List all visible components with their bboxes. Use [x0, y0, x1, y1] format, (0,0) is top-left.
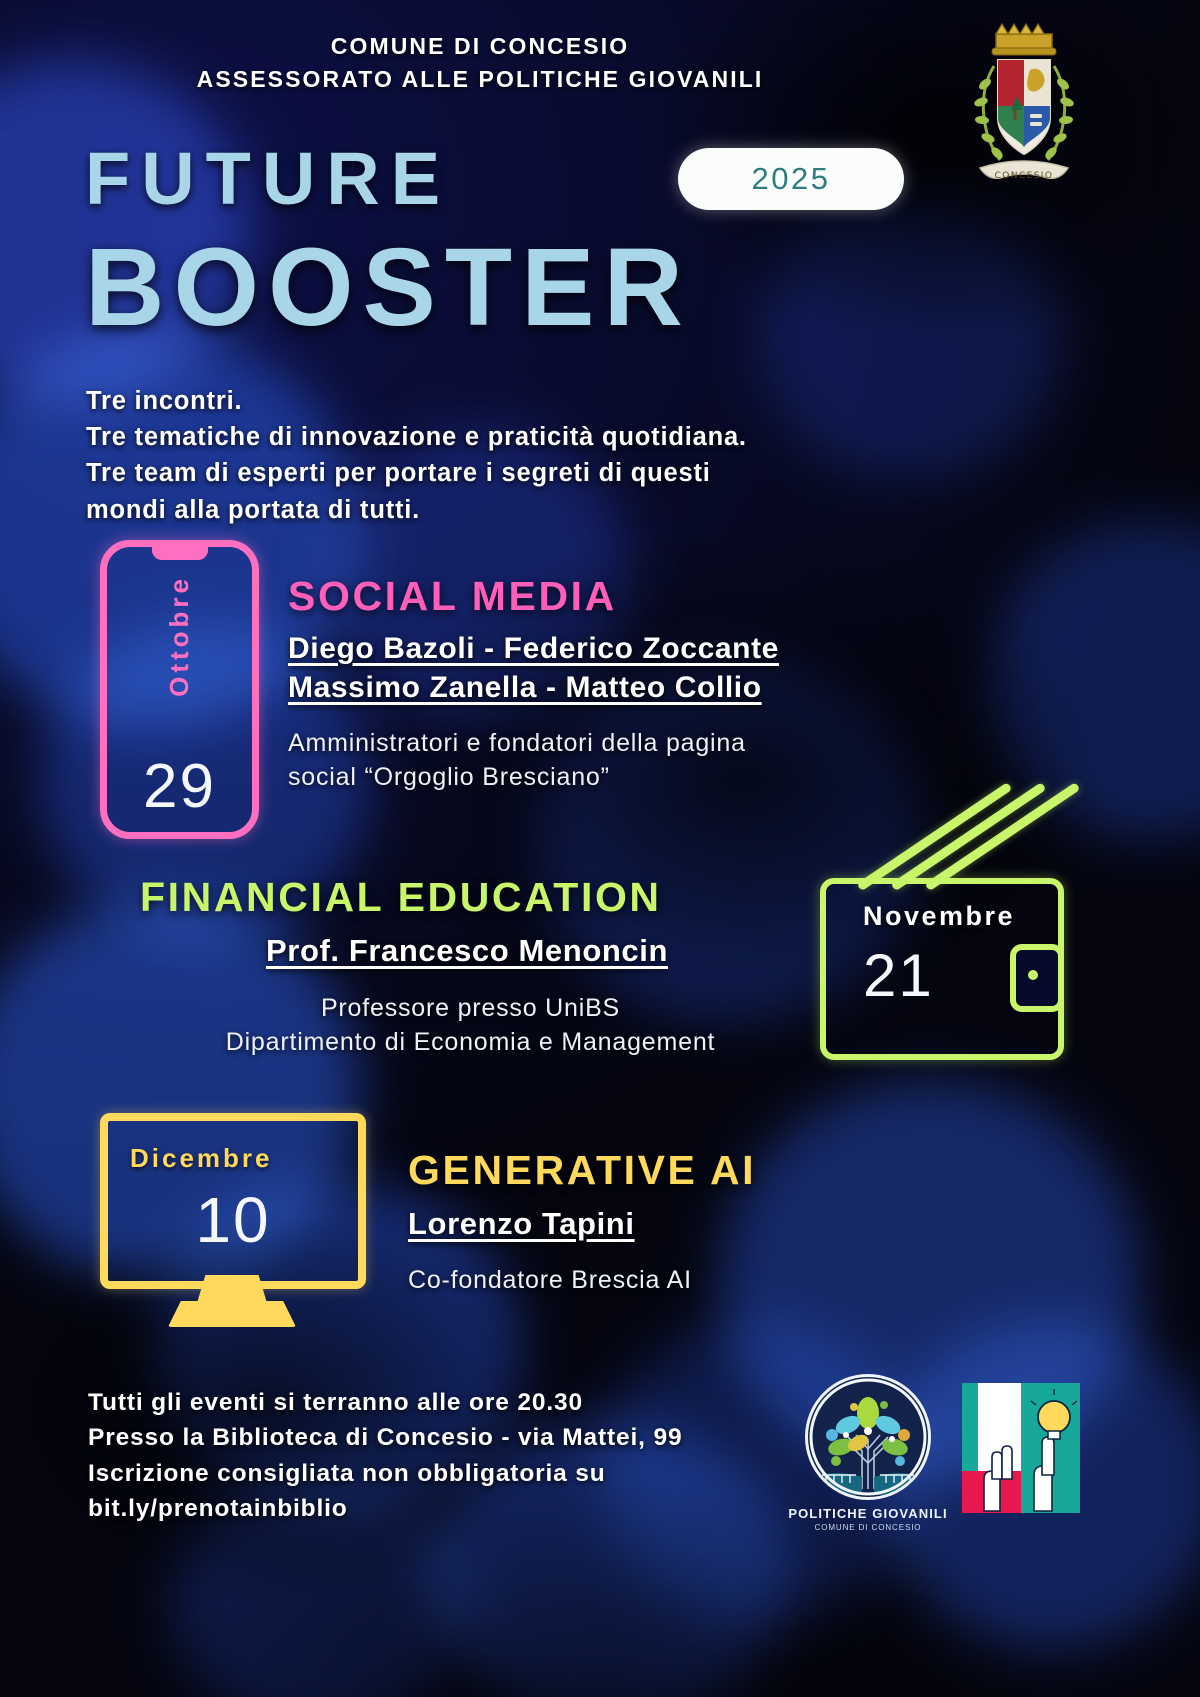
session-1-month-wrap: Ottobre: [107, 575, 252, 697]
session-1-speakers-line-2: Massimo Zanella - Matteo Collio: [288, 671, 762, 705]
page-title-future: FUTURE: [85, 136, 451, 221]
wallet-card-3: [924, 782, 1080, 891]
footer-line-registration: Iscrizione consigliata non obbligatoria …: [88, 1456, 788, 1491]
session-3-day: 10: [108, 1183, 358, 1257]
session-1-title: SOCIAL MEDIA: [288, 573, 617, 620]
footer-line-time: Tutti gli eventi si terranno alle ore 20…: [88, 1385, 788, 1420]
hand-lightbulb-logo: [962, 1383, 1080, 1513]
monitor-neck: [197, 1275, 267, 1303]
session-2-speaker: Prof. Francesco Menoncin: [266, 933, 668, 969]
intro-line-3: Tre team di esperti per portare i segret…: [86, 455, 986, 491]
session-2-desc-line-2: Dipartimento di Economia e Management: [148, 1026, 793, 1060]
politiche-giovanili-caption: POLITICHE GIOVANILI: [788, 1506, 948, 1521]
wallet-icon: Novembre 21: [815, 795, 1065, 1060]
intro-paragraph: Tre incontri. Tre tematiche di innovazio…: [86, 383, 986, 528]
smartphone-notch: [152, 545, 208, 560]
year-badge: 2025: [678, 148, 904, 210]
intro-line-2: Tre tematiche di innovazione e praticità…: [86, 419, 986, 455]
tree-circuit-icon: [805, 1374, 931, 1500]
wallet-card-2: [890, 782, 1046, 891]
session-3-speaker: Lorenzo Tapini: [408, 1206, 635, 1242]
monitor-screen: Dicembre 10: [100, 1113, 366, 1289]
politiche-giovanili-logo: POLITICHE GIOVANILI COMUNE DI CONCESIO: [788, 1374, 948, 1542]
smartphone-icon: Ottobre 29: [100, 540, 259, 839]
session-1-desc-line-1: Amministratori e fondatori della pagina: [288, 727, 746, 761]
session-3-title: GENERATIVE AI: [408, 1147, 756, 1194]
footer-info: Tutti gli eventi si terranno alle ore 20…: [88, 1385, 788, 1526]
session-3-description: Co-fondatore Brescia AI: [408, 1264, 692, 1298]
monitor-icon: Dicembre 10: [100, 1113, 365, 1333]
wallet-clasp-dot: [1028, 970, 1038, 980]
wallet-card-1: [856, 782, 1012, 891]
session-2-title: FINANCIAL EDUCATION: [140, 874, 662, 921]
intro-line-1: Tre incontri.: [86, 383, 986, 419]
session-1-day: 29: [107, 751, 252, 822]
politiche-giovanili-subcaption: COMUNE DI CONCESIO: [788, 1523, 948, 1532]
session-2-month: Novembre: [863, 901, 1015, 932]
year-badge-label: 2025: [752, 161, 831, 197]
session-1-description: Amministratori e fondatori della pagina …: [288, 727, 746, 795]
page-title-booster: BOOSTER: [85, 224, 692, 351]
intro-line-4: mondi alla portata di tutti.: [86, 492, 986, 528]
monitor-base: [168, 1301, 296, 1327]
session-1-month: Ottobre: [164, 575, 195, 697]
session-2-description: Professore presso UniBS Dipartimento di …: [148, 992, 793, 1060]
footer-line-url: bit.ly/prenotainbiblio: [88, 1491, 788, 1526]
comune-crest-icon: CONCESIO: [968, 22, 1080, 202]
session-3-month: Dicembre: [130, 1143, 273, 1174]
session-1-speakers-line-1: Diego Bazoli - Federico Zoccante: [288, 632, 779, 666]
footer-line-venue: Presso la Biblioteca di Concesio - via M…: [88, 1420, 788, 1455]
poster-root: COMUNE DI CONCESIO ASSESSORATO ALLE POLI…: [0, 0, 1200, 1697]
session-2-desc-line-1: Professore presso UniBS: [148, 992, 793, 1026]
crest-motto: CONCESIO: [995, 171, 1054, 181]
organization-header: COMUNE DI CONCESIO ASSESSORATO ALLE POLI…: [0, 30, 960, 95]
wallet-clasp: [1010, 944, 1064, 1012]
session-1-desc-line-2: social “Orgoglio Bresciano”: [288, 761, 746, 795]
org-line-2: ASSESSORATO ALLE POLITICHE GIOVANILI: [0, 63, 960, 96]
org-line-1: COMUNE DI CONCESIO: [0, 30, 960, 63]
session-2-day: 21: [863, 941, 934, 1010]
